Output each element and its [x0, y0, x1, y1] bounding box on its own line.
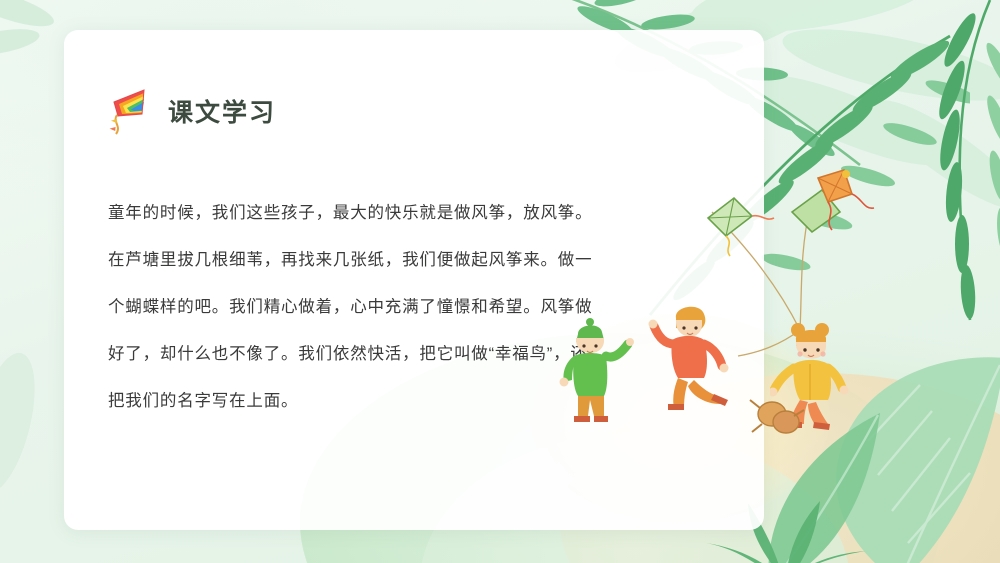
- willow-branch-3: [840, 0, 1000, 330]
- card-header: 课文学习: [108, 84, 276, 138]
- content-card: 课文学习 童年的时候，我们这些孩子，最大的快乐就是做风筝，放风筝。 在芦塘里拔几…: [64, 30, 764, 530]
- slide-root: 课文学习 童年的时候，我们这些孩子，最大的快乐就是做风筝，放风筝。 在芦塘里拔几…: [0, 0, 1000, 563]
- page-title: 课文学习: [168, 93, 276, 129]
- paragraph-1: 童年的时候，我们这些孩子，最大的快乐就是做风筝，放风筝。: [108, 190, 598, 237]
- paragraph-2: 在芦塘里拔几根细苇，再找来几张纸，我们便做起风筝来。做一个蝴蝶样的吧。我们精心做…: [108, 237, 598, 425]
- kite-icon: [108, 86, 154, 140]
- lesson-body-text: 童年的时候，我们这些孩子，最大的快乐就是做风筝，放风筝。 在芦塘里拔几根细苇，再…: [108, 190, 598, 425]
